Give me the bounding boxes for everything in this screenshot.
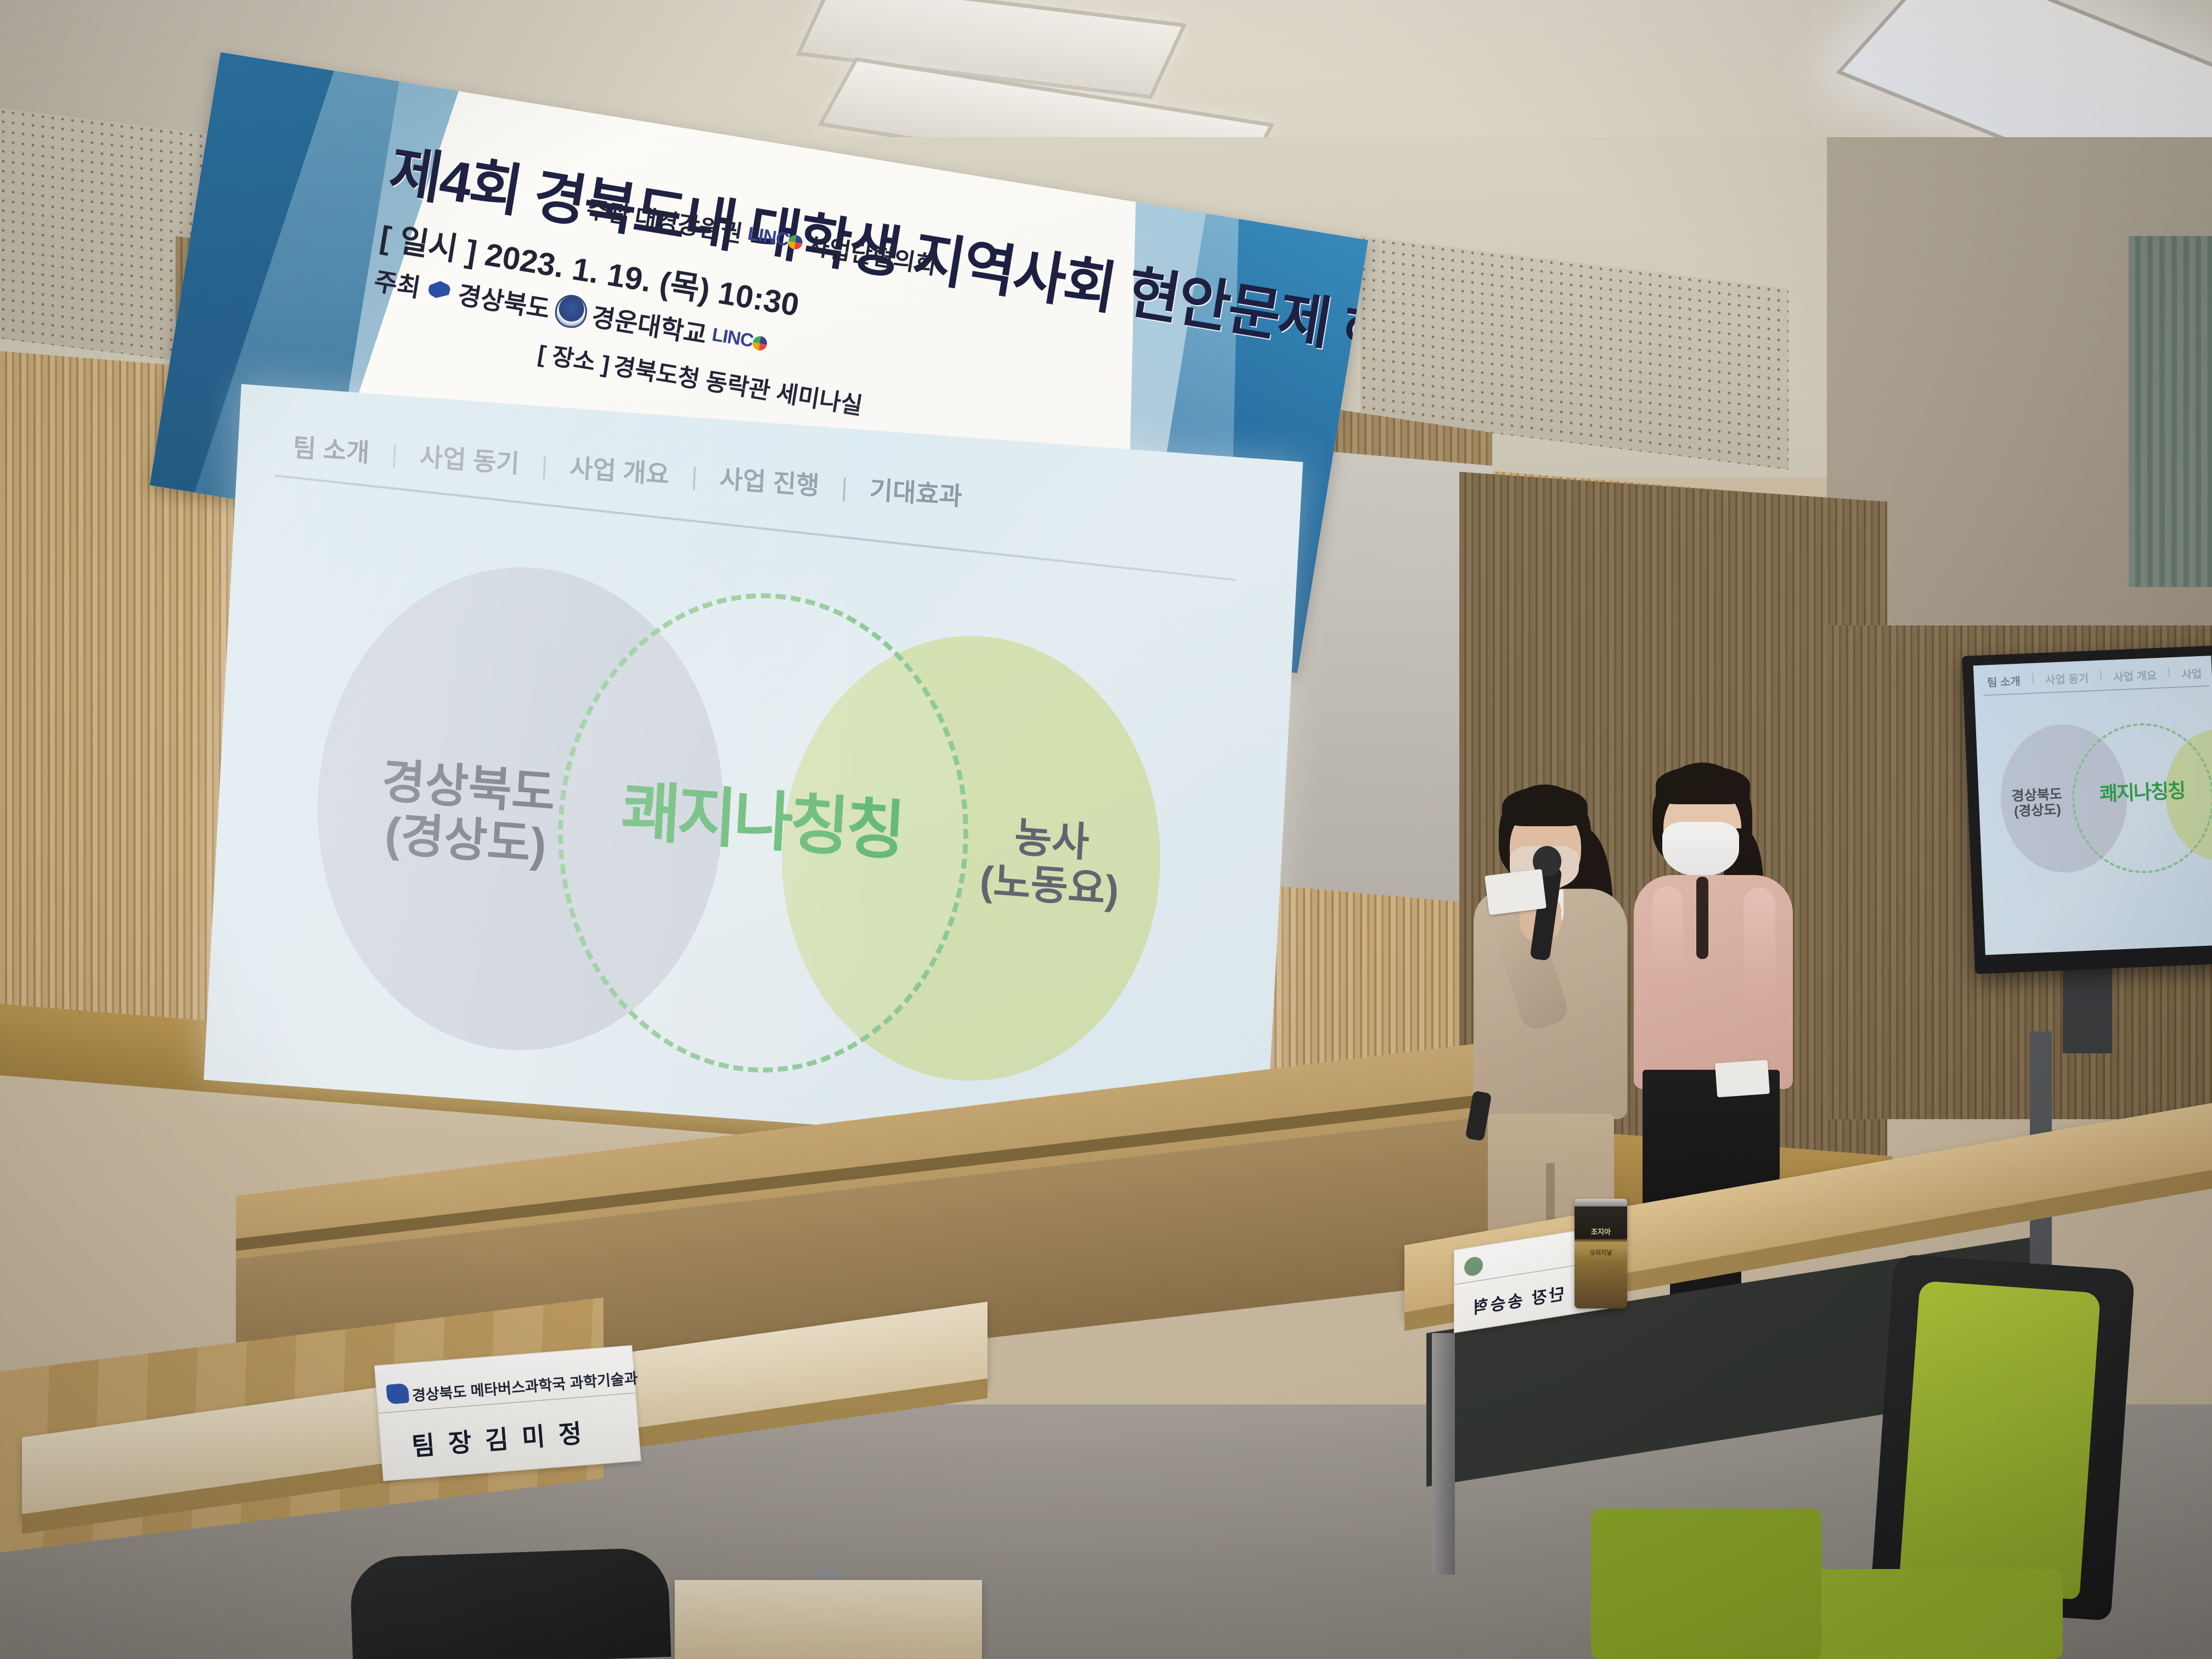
placard-front-left-name: 팀 장 김 미 정 <box>410 1413 586 1463</box>
projected-slide: 팀 소개 | 사업 동기 | 사업 개요 | 사업 진행 | 기대효과 경상북도… <box>204 384 1303 1158</box>
linc-mark-icon: LINC <box>710 324 769 354</box>
placard-stage-right-emblem-icon <box>1464 1256 1483 1277</box>
presenter-1-fringe <box>1502 787 1588 826</box>
can-brand-label: 조지아 <box>1575 1226 1627 1237</box>
monitor-tab-motivation: 사업 동기 <box>2045 669 2089 687</box>
right-chair-mesh-panel <box>1899 1280 2101 1600</box>
banner-organizer-value: 대경강원권 <box>633 198 745 249</box>
monitor-nav-sep-2: | <box>2099 669 2102 685</box>
monitor-tab-team-intro: 팀 소개 <box>1987 673 2021 690</box>
slide-tab-progress: 사업 진행 <box>719 459 820 502</box>
window-curtain <box>2129 236 2212 587</box>
front-left-chair-backrest <box>349 1547 672 1659</box>
linc-plus-icon-2 <box>787 234 804 250</box>
presenter-2-ruffle-right <box>1743 888 1775 1003</box>
monitor-nav-sep-3: | <box>2168 666 2171 682</box>
banner-place-value: 경북도청 동락관 세미나실 <box>611 347 865 421</box>
venn-diagram: 경상북도 (경상도) 쾌지나칭칭 농사 (노동요) <box>287 530 1214 1133</box>
placard-stage-right-name: 단장 송승혁 <box>1471 1280 1564 1319</box>
slide-nav-sep-2: | <box>540 450 549 482</box>
presenter-2-kf94-mask-icon <box>1662 822 1739 877</box>
right-chair-seat-under-table <box>1591 1509 1821 1659</box>
placard-front-left-org: 경상북도 메타버스과학국 과학기술과 <box>411 1366 639 1405</box>
monitor-venn-label-center: 쾌지나칭칭 <box>2099 780 2185 805</box>
banner-host-label: 주최 <box>371 261 423 304</box>
presenter-1-cue-card <box>1485 869 1547 915</box>
monitor-stand <box>2063 966 2112 1053</box>
presenter-2-neck-ribbon <box>1696 877 1708 959</box>
linc-text: LINC <box>710 324 754 351</box>
monitor-tab-overview: 사업 개요 <box>2113 667 2157 684</box>
linc-plus-icon <box>752 335 768 351</box>
monitor-venn-label-left: 경상북도 (경상도) <box>2011 787 2063 820</box>
placard-front-left: 경상북도 메타버스과학국 과학기술과 팀 장 김 미 정 <box>374 1345 641 1491</box>
venn-label-left: 경상북도 (경상도) <box>341 752 593 876</box>
kyungwoon-university-emblem-icon <box>553 292 590 330</box>
front-left-table-lower <box>675 1580 982 1659</box>
venn-label-right: 농사 (노동요) <box>939 810 1163 917</box>
side-monitor: 팀 소개 | 사업 동기 | 사업 개요 | 사업 경상북도 (경상도) 쾌지나… <box>1962 645 2212 974</box>
can-lid <box>1575 1199 1627 1206</box>
monitor-nav-sep-1: | <box>2031 672 2034 688</box>
monitor-tab-progress: 사업 <box>2181 665 2202 682</box>
linc-text-2: LINC <box>746 223 790 250</box>
monitor-venn-label-left-line2: (경상도) <box>2012 802 2063 819</box>
side-monitor-screen: 팀 소개 | 사업 동기 | 사업 개요 | 사업 경상북도 (경상도) 쾌지나… <box>1973 656 2212 955</box>
can-variant-label: 오리지널 <box>1575 1248 1627 1257</box>
slide-tab-overview: 사업 개요 <box>569 448 670 491</box>
banner-place-label: [ 장소 ] <box>535 335 612 380</box>
banner-date-label: [ 일시 ] <box>377 219 479 270</box>
photo-scene: 제4회 경북도내 대학생 지역사회 현안문제 해결방안 경진대회 [ 일시 ] … <box>0 0 2212 1659</box>
linc-mark-icon-2: LINC <box>746 223 804 253</box>
banner-organizer-label: 주관 <box>584 190 633 231</box>
presenter-2-ruffle-left <box>1652 886 1683 1001</box>
slide-tab-motivation: 사업 동기 <box>419 437 520 480</box>
placard-front-left-face: 경상북도 메타버스과학국 과학기술과 팀 장 김 미 정 <box>374 1345 641 1481</box>
slide-nav-sep-3: | <box>690 461 698 494</box>
slide-tab-team-intro: 팀 소개 <box>292 427 370 469</box>
slide-nav-sep-1: | <box>391 439 399 471</box>
projection-screen: 팀 소개 | 사업 동기 | 사업 개요 | 사업 진행 | 기대효과 경상북도… <box>204 384 1303 1158</box>
presenter-2-fringe <box>1656 766 1750 804</box>
monitor-nav: 팀 소개 | 사업 동기 | 사업 개요 | 사업 <box>1987 664 2212 690</box>
gyeongsangbuk-do-emblem-icon <box>424 274 455 305</box>
right-chair-seat <box>1810 1569 2063 1659</box>
coffee-can: 조지아 오리지널 <box>1575 1199 1627 1308</box>
presenter-2-note-paper <box>1715 1060 1770 1098</box>
slide-tab-expected-effect: 기대효과 <box>868 470 963 512</box>
placard-front-left-emblem-icon <box>386 1383 410 1404</box>
slide-nav-sep-4: | <box>840 472 849 505</box>
monitor-venn-diagram: 경상북도 (경상도) 쾌지나칭칭 <box>1980 695 2212 940</box>
banner-organizer-suffix: 사업단협의회 <box>805 227 939 281</box>
banner-organizer-line: 주관 대경강원권 LINC 사업단협의회 <box>584 190 939 281</box>
right-table-leg <box>1432 1333 1455 1575</box>
